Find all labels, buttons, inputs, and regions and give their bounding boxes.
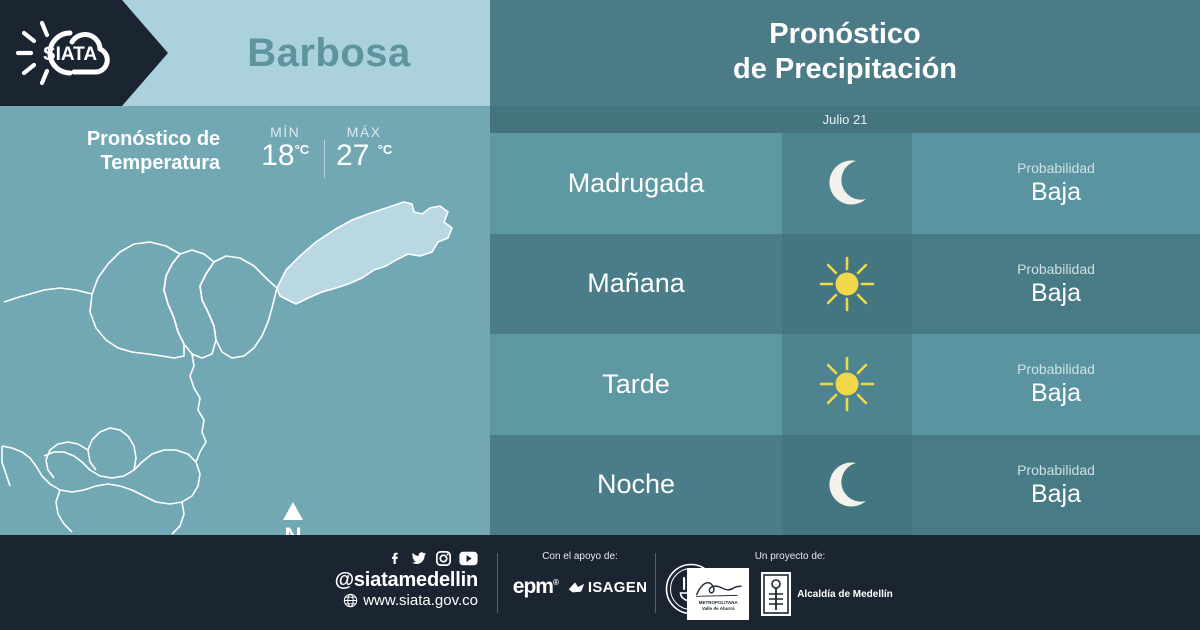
website-url: www.siata.gov.co [363,592,478,609]
temperature-min-label: MÍN [270,124,300,140]
forecast-probability-cell: Probabilidad Baja [912,234,1200,335]
temperature-max-value: 27 °C [336,140,392,172]
temperature-title: Pronóstico de Temperatura [87,127,220,176]
city-name: Barbosa [168,0,490,106]
amva-logo: METROPOLITANA Valle de Aburrá [687,568,749,620]
map-region-medellin [2,446,200,504]
probability-caption: Probabilidad [1017,360,1095,379]
map-border-west [4,288,92,302]
support-caption: Con el apoyo de: [500,551,660,562]
compass-north: N [276,500,310,535]
moon-icon [821,157,873,209]
footer: @siatamedellin www.siata.gov.co Con el a… [0,535,1200,630]
project-caption: Un proyecto de: [660,551,920,562]
forecast-date: Julio 21 [490,106,1200,133]
map-region-barbosa [277,202,452,304]
footer-divider-1 [497,553,498,613]
forecast-row-manana[interactable]: Mañana Probabili [490,234,1200,335]
probability-caption: Probabilidad [1017,461,1095,480]
support-logos: epm® ISAGEN [500,575,660,599]
probability-value: Baja [1031,178,1081,207]
forecast-icon-cell [782,435,912,536]
forecast-period-label: Madrugada [490,133,782,234]
facebook-icon[interactable] [388,549,403,567]
moon-icon [821,459,873,511]
temperature-min: MÍN 18°C [246,124,324,172]
globe-icon [343,593,358,608]
forecast-row-tarde[interactable]: Tarde Probabilid [490,334,1200,435]
map-region-envigado [88,428,136,470]
probability-value: Baja [1031,279,1081,308]
website-row[interactable]: www.siata.gov.co [343,592,478,609]
project-logos: METROPOLITANA Valle de Aburrá Alcaldía d… [660,568,920,620]
map-region-south-edge [172,502,184,534]
isagen-logo: ISAGEN [568,579,647,596]
social-handle[interactable]: @siatamedellin [335,569,478,592]
map-border-river [190,354,206,462]
forecast-row-noche[interactable]: Noche Probabilidad Baja [490,435,1200,536]
precipitation-title-line2: de Precipitación [733,52,957,87]
map-border-southwest [2,446,10,486]
map-region-bello [90,242,184,358]
temperature-panel: Pronóstico de Temperatura MÍN 18°C MÁX 2… [0,106,490,535]
temperature-max-unit: °C [378,142,393,157]
precipitation-title: Pronóstico de Precipitación [490,6,1200,98]
forecast-icon-cell [782,234,912,335]
compass-label: N [284,523,301,535]
sun-icon [817,254,877,314]
map-region-girardota [200,256,277,358]
alcaldia-mark-icon [761,572,791,616]
temperature-min-unit: °C [295,142,310,157]
temperature-min-value: 18°C [261,140,309,172]
precipitation-title-line1: Pronóstico [769,17,920,52]
probability-value: Baja [1031,379,1081,408]
sun-icon [817,354,877,414]
project-block: Un proyecto de: METROPOLITANA Valle de A… [660,551,920,620]
forecast-row-madrugada[interactable]: Madrugada Probabilidad Baja [490,133,1200,234]
precipitation-forecast-grid: Madrugada Probabilidad Baja Mañana [490,133,1200,535]
alcaldia-logo: Alcaldía de Medellín [761,572,893,616]
forecast-icon-cell [782,334,912,435]
twitter-icon[interactable] [410,549,428,567]
weather-forecast-card: SIATA Barbosa Pronóstico de Precipitació… [0,0,1200,630]
siata-logo-text: SIATA [43,44,97,65]
compass-arrow-icon [283,502,303,520]
probability-caption: Probabilidad [1017,159,1095,178]
social-block: @siatamedellin www.siata.gov.co [300,549,478,609]
forecast-period-label: Noche [490,435,782,536]
isagen-mark-icon [568,580,585,594]
youtube-icon[interactable] [459,551,478,566]
temperature-max: MÁX 27 °C [325,124,403,172]
forecast-probability-cell: Probabilidad Baja [912,334,1200,435]
alcaldia-label: Alcaldía de Medellín [797,589,893,600]
sun-cloud-icon: SIATA [14,16,126,90]
temperature-title-line1: Pronóstico de [87,127,220,151]
map-region-copacabana [164,250,216,358]
temperature-max-label: MÁX [347,124,382,140]
map-region-sabaneta [46,442,88,478]
instagram-icon[interactable] [435,550,452,567]
footer-divider-2 [655,553,656,613]
forecast-period-label: Tarde [490,334,782,435]
aburra-valley-map: N [0,170,490,535]
forecast-probability-cell: Probabilidad Baja [912,133,1200,234]
top-banner: SIATA Barbosa Pronóstico de Precipitació… [0,0,1200,106]
probability-value: Baja [1031,480,1081,509]
amva-script-icon [691,576,745,600]
map-region-caldas [56,490,72,532]
map-region-itagui [44,450,196,478]
siata-logo: SIATA [14,16,126,90]
support-block: Con el apoyo de: epm® ISAGEN [500,551,660,599]
epm-logo: epm® [513,575,558,599]
amva-subtitle-2: Valle de Aburrá [702,606,735,612]
forecast-period-label: Mañana [490,234,782,335]
probability-caption: Probabilidad [1017,260,1095,279]
forecast-probability-cell: Probabilidad Baja [912,435,1200,536]
forecast-icon-cell [782,133,912,234]
social-icons [388,549,478,567]
